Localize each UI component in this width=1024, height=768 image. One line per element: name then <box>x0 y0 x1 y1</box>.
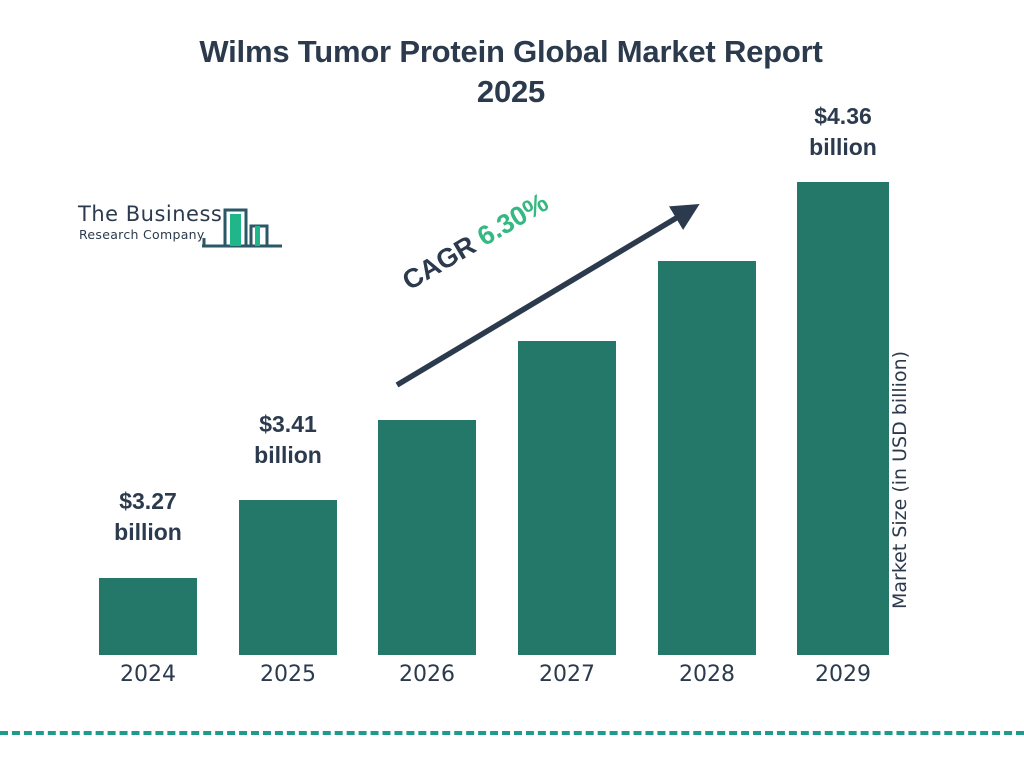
footer-divider <box>0 731 1024 735</box>
x-tick-2024: 2024 <box>98 662 198 687</box>
bar-value-2029: $4.36 billion <box>778 101 908 162</box>
bar-value-2024: $3.27 billion <box>83 486 213 547</box>
x-tick-2026: 2026 <box>377 662 477 687</box>
bar-chart: $3.27 billion $3.41 billion $4.36 billio… <box>0 0 1024 768</box>
bar-2025 <box>239 500 337 655</box>
bar-2024 <box>99 578 197 655</box>
y-axis-title-text: Market Size (in USD billion) <box>889 300 911 660</box>
y-axis-title: Market Size (in USD billion) <box>889 300 911 660</box>
x-tick-2025: 2025 <box>238 662 338 687</box>
bar-2027 <box>518 341 616 655</box>
bar-2029 <box>797 182 889 655</box>
bar-value-2025: $3.41 billion <box>223 409 353 470</box>
x-tick-2027: 2027 <box>517 662 617 687</box>
bar-2028 <box>658 261 756 655</box>
x-tick-2028: 2028 <box>657 662 757 687</box>
bar-2026 <box>378 420 476 655</box>
cagr-word: CAGR <box>397 230 481 296</box>
x-tick-2029: 2029 <box>793 662 893 687</box>
cagr-value: 6.30% <box>472 187 553 252</box>
cagr-label: CAGR 6.30% <box>397 187 554 297</box>
